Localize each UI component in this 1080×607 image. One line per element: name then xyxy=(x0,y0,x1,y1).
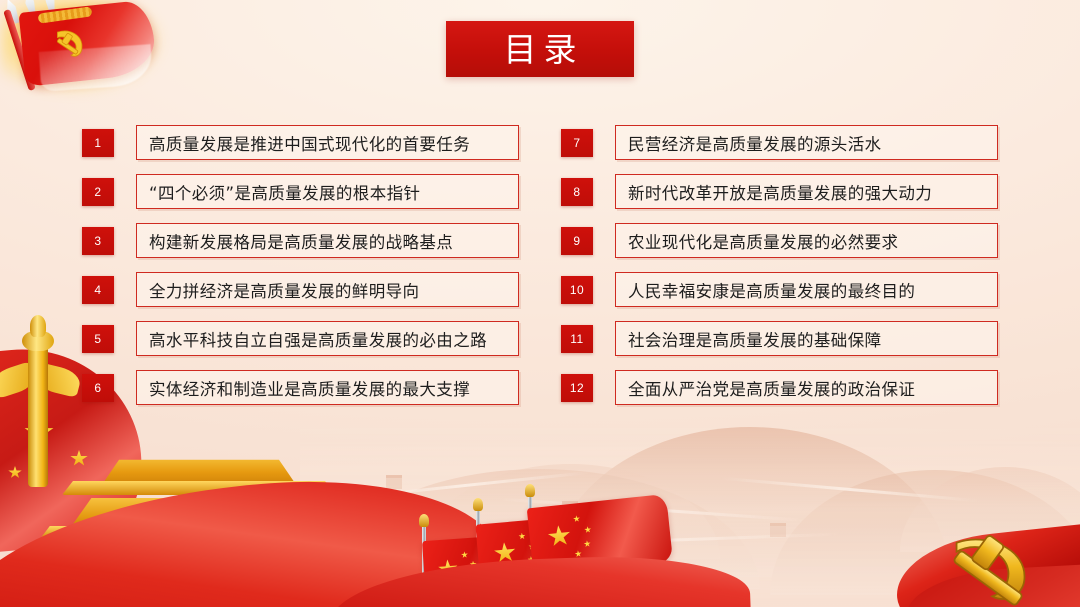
list-item[interactable]: 11 社会治理是高质量发展的基础保障 xyxy=(561,314,998,363)
item-label: 高质量发展是推进中国式现代化的首要任务 xyxy=(137,131,470,155)
cpc-party-flag-icon xyxy=(0,0,184,110)
list-item[interactable]: 6 实体经济和制造业是高质量发展的最大支撑 xyxy=(82,363,519,412)
item-label: 社会治理是高质量发展的基础保障 xyxy=(616,327,882,351)
item-number-badge: 9 xyxy=(561,227,593,255)
item-box[interactable]: 实体经济和制造业是高质量发展的最大支撑 xyxy=(136,370,519,405)
item-number-badge: 10 xyxy=(561,276,593,304)
item-box[interactable]: 全力拼经济是高质量发展的鲜明导向 xyxy=(136,272,519,307)
slide-canvas: 中华人民共和国万岁 世界人民大团结万岁 xyxy=(0,0,1080,607)
item-box[interactable]: 新时代改革开放是高质量发展的强大动力 xyxy=(615,174,998,209)
item-label: 新时代改革开放是高质量发展的强大动力 xyxy=(616,180,932,204)
hammer-sickle-3d-icon xyxy=(940,525,1048,607)
item-number-badge: 8 xyxy=(561,178,593,206)
item-box[interactable]: 全面从严治党是高质量发展的政治保证 xyxy=(615,370,998,405)
toc-right-column: 7 民营经济是高质量发展的源头活水 8 新时代改革开放是高质量发展的强大动力 9… xyxy=(561,118,998,412)
item-label: 高水平科技自立自强是高质量发展的必由之路 xyxy=(137,327,487,351)
list-item[interactable]: 12 全面从严治党是高质量发展的政治保证 xyxy=(561,363,998,412)
item-number-badge: 3 xyxy=(82,227,114,255)
item-box[interactable]: 民营经济是高质量发展的源头活水 xyxy=(615,125,998,160)
list-item[interactable]: 7 民营经济是高质量发展的源头活水 xyxy=(561,118,998,167)
item-label: 全力拼经济是高质量发展的鲜明导向 xyxy=(137,278,419,302)
list-item[interactable]: 1 高质量发展是推进中国式现代化的首要任务 xyxy=(82,118,519,167)
list-item[interactable]: 2 “四个必须”是高质量发展的根本指针 xyxy=(82,167,519,216)
list-item[interactable]: 8 新时代改革开放是高质量发展的强大动力 xyxy=(561,167,998,216)
item-box[interactable]: 高质量发展是推进中国式现代化的首要任务 xyxy=(136,125,519,160)
item-number-badge: 12 xyxy=(561,374,593,402)
item-number-badge: 6 xyxy=(82,374,114,402)
item-label: 全面从严治党是高质量发展的政治保证 xyxy=(616,376,915,400)
page-title-banner: 目录 xyxy=(446,21,634,77)
item-box[interactable]: 人民幸福安康是高质量发展的最终目的 xyxy=(615,272,998,307)
item-label: “四个必须”是高质量发展的根本指针 xyxy=(137,180,420,204)
item-number-badge: 2 xyxy=(82,178,114,206)
hammer-sickle-emblem-icon xyxy=(896,505,1080,607)
item-number-badge: 11 xyxy=(561,325,593,353)
toc-left-column: 1 高质量发展是推进中国式现代化的首要任务 2 “四个必须”是高质量发展的根本指… xyxy=(82,118,519,412)
item-box[interactable]: 农业现代化是高质量发展的必然要求 xyxy=(615,223,998,258)
item-label: 民营经济是高质量发展的源头活水 xyxy=(616,131,882,155)
list-item[interactable]: 4 全力拼经济是高质量发展的鲜明导向 xyxy=(82,265,519,314)
item-label: 构建新发展格局是高质量发展的战略基点 xyxy=(137,229,453,253)
item-number-badge: 5 xyxy=(82,325,114,353)
list-item[interactable]: 9 农业现代化是高质量发展的必然要求 xyxy=(561,216,998,265)
item-number-badge: 1 xyxy=(82,129,114,157)
list-item[interactable]: 5 高水平科技自立自强是高质量发展的必由之路 xyxy=(82,314,519,363)
item-number-badge: 4 xyxy=(82,276,114,304)
item-box[interactable]: 构建新发展格局是高质量发展的战略基点 xyxy=(136,223,519,258)
table-of-contents: 1 高质量发展是推进中国式现代化的首要任务 2 “四个必须”是高质量发展的根本指… xyxy=(82,118,998,412)
item-label: 农业现代化是高质量发展的必然要求 xyxy=(616,229,898,253)
list-item[interactable]: 3 构建新发展格局是高质量发展的战略基点 xyxy=(82,216,519,265)
item-box[interactable]: “四个必须”是高质量发展的根本指针 xyxy=(136,174,519,209)
item-box[interactable]: 高水平科技自立自强是高质量发展的必由之路 xyxy=(136,321,519,356)
page-title: 目录 xyxy=(497,33,584,66)
list-item[interactable]: 10 人民幸福安康是高质量发展的最终目的 xyxy=(561,265,998,314)
item-label: 人民幸福安康是高质量发展的最终目的 xyxy=(616,278,915,302)
item-label: 实体经济和制造业是高质量发展的最大支撑 xyxy=(137,376,470,400)
item-number-badge: 7 xyxy=(561,129,593,157)
hammer-sickle-icon xyxy=(50,24,92,62)
item-box[interactable]: 社会治理是高质量发展的基础保障 xyxy=(615,321,998,356)
